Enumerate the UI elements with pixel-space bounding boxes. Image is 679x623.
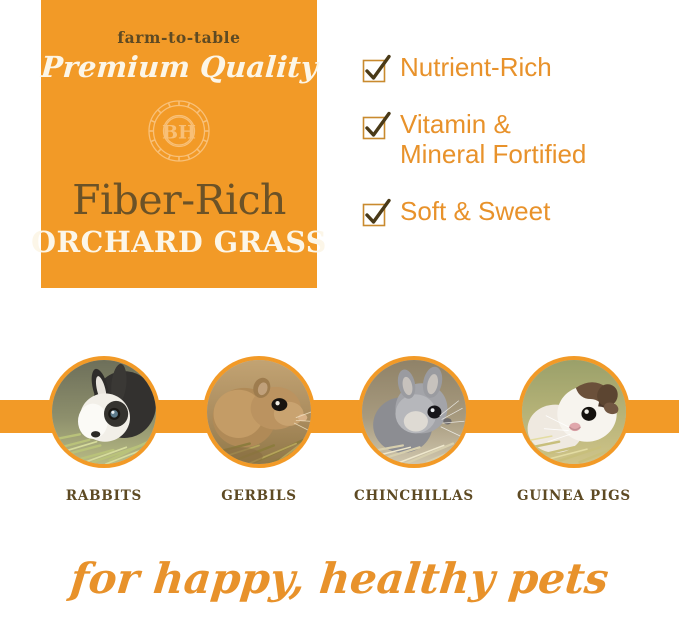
rabbit-photo <box>48 356 160 468</box>
benefits-list: Nutrient-Rich Vitamin & Mineral Fortifie… <box>363 52 663 227</box>
checkbox-checked-icon <box>363 202 386 225</box>
animal-item-gerbils: GERBILS <box>199 356 319 504</box>
hero-eyebrow: farm-to-table <box>117 30 240 46</box>
brand-seal-icon: BH <box>146 98 212 164</box>
benefit-item: Nutrient-Rich <box>363 52 663 83</box>
benefit-label: Nutrient-Rich <box>400 52 552 83</box>
animal-list: RABBITS <box>0 356 679 526</box>
checkbox-checked-icon <box>363 58 386 81</box>
chinchilla-photo <box>358 356 470 468</box>
hero-panel: farm-to-table Premium Quality <box>41 0 317 288</box>
product-name-secondary: ORCHARD GRASS <box>31 228 327 257</box>
checkbox-checked-icon <box>363 115 386 138</box>
hero-headline: Premium Quality <box>40 52 319 82</box>
animal-label: GUINEA PIGS <box>514 488 634 504</box>
animal-item-rabbits: RABBITS <box>44 356 164 504</box>
animal-item-guinea-pigs: GUINEA PIGS <box>514 356 634 504</box>
animal-label: CHINCHILLAS <box>354 488 474 504</box>
benefit-item: Soft & Sweet <box>363 196 663 227</box>
animal-item-chinchillas: CHINCHILLAS <box>354 356 474 504</box>
footer-tagline: for happy, healthy pets <box>0 558 679 600</box>
gerbil-photo <box>203 356 315 468</box>
brand-seal-monogram: BH <box>162 121 196 143</box>
benefit-item: Vitamin & Mineral Fortified <box>363 109 663 170</box>
animal-label: GERBILS <box>199 488 319 504</box>
animal-label: RABBITS <box>44 488 164 504</box>
guinea-pig-photo <box>518 356 630 468</box>
product-infographic: farm-to-table Premium Quality <box>0 0 679 623</box>
benefit-label: Vitamin & Mineral Fortified <box>400 109 586 170</box>
benefit-label: Soft & Sweet <box>400 196 550 227</box>
product-name-primary: Fiber-Rich <box>72 180 286 221</box>
